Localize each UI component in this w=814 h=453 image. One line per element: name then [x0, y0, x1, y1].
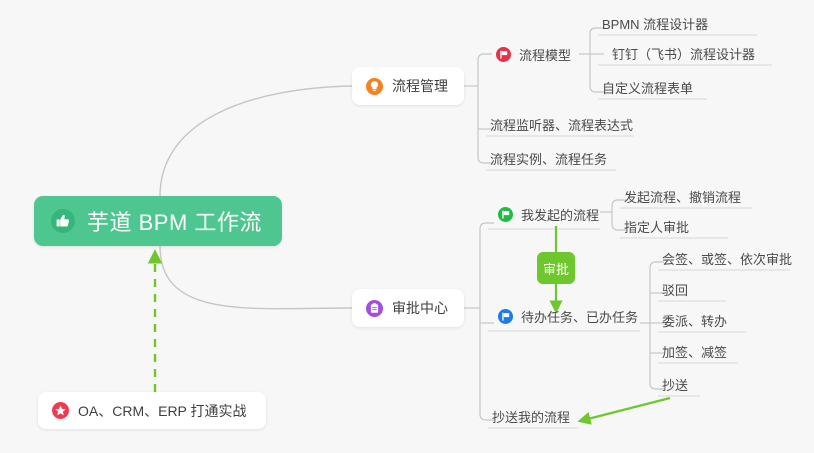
connector-bracket-my-initiated: [480, 223, 494, 229]
lightbulb-icon: [366, 78, 383, 95]
node-label-assigned-approve: 指定人审批: [624, 217, 689, 236]
branch-label-approval-center: 审批中心: [392, 298, 448, 318]
node-label-multi-sign: 会签、或签、依次审批: [662, 249, 792, 268]
approval-badge-label: 审批: [543, 259, 569, 278]
node-start-cancel[interactable]: 发起流程、撤销流程: [620, 182, 747, 210]
node-reject[interactable]: 驳回: [658, 275, 694, 303]
node-label-cc: 抄送: [662, 375, 688, 394]
node-label-oa-crm-erp: OA、CRM、ERP 打通实战: [78, 401, 247, 421]
node-add-remove-sign[interactable]: 加签、减签: [658, 337, 733, 365]
arrow-cc-to-cc-to-me: [580, 398, 670, 421]
flag-icon: [496, 47, 511, 62]
node-cc[interactable]: 抄送: [658, 370, 694, 398]
node-oa-crm-erp[interactable]: OA、CRM、ERP 打通实战: [38, 392, 266, 429]
node-label-bpmn-designer: BPMN 流程设计器: [602, 14, 708, 33]
node-label-start-cancel: 发起流程、撤销流程: [624, 187, 741, 206]
node-instance-task[interactable]: 流程实例、流程任务: [486, 144, 613, 172]
node-process-model[interactable]: 流程模型: [492, 40, 577, 68]
branch-label-process-management: 流程管理: [392, 76, 448, 96]
node-label-custom-process-form: 自定义流程表单: [602, 78, 693, 97]
thumbs-up-icon: [50, 208, 76, 234]
node-label-dingtalk-feishu-designer: 钉钉（飞书）流程设计器: [612, 44, 755, 63]
node-dingtalk-feishu-designer[interactable]: 钉钉（飞书）流程设计器: [608, 39, 761, 67]
node-label-cc-to-me: 抄送我的流程: [492, 407, 570, 426]
mindmap-canvas: 芋道 BPM 工作流 流程管理 审批中心: [0, 0, 814, 453]
node-todo-done[interactable]: 待办任务、已办任务: [494, 302, 644, 330]
node-label-my-initiated: 我发起的流程: [521, 205, 599, 224]
star-icon: [52, 402, 69, 419]
connector-root-to-approval-center: [160, 246, 352, 309]
flag-icon: [498, 207, 513, 222]
branch-node-approval-center[interactable]: 审批中心: [352, 289, 464, 327]
flag-icon: [498, 309, 513, 324]
node-label-listener-expression: 流程监听器、流程表达式: [490, 115, 633, 134]
node-label-add-remove-sign: 加签、减签: [662, 342, 727, 361]
node-label-todo-done: 待办任务、已办任务: [521, 307, 638, 326]
node-label-delegate-transfer: 委派、转办: [662, 311, 727, 330]
node-label-instance-task: 流程实例、流程任务: [490, 149, 607, 168]
connector-root-to-process-management: [160, 86, 352, 196]
clipboard-icon: [366, 300, 383, 317]
node-label-reject: 驳回: [662, 280, 688, 299]
root-label: 芋道 BPM 工作流: [87, 205, 262, 237]
node-custom-process-form[interactable]: 自定义流程表单: [598, 73, 699, 101]
node-multi-sign[interactable]: 会签、或签、依次审批: [658, 244, 798, 272]
node-delegate-transfer[interactable]: 委派、转办: [658, 306, 733, 334]
branch-node-process-management[interactable]: 流程管理: [352, 67, 464, 105]
root-node[interactable]: 芋道 BPM 工作流: [34, 196, 282, 246]
node-my-initiated[interactable]: 我发起的流程: [494, 200, 605, 228]
approval-badge[interactable]: 审批: [537, 252, 575, 284]
node-cc-to-me[interactable]: 抄送我的流程: [488, 402, 576, 430]
node-assigned-approve[interactable]: 指定人审批: [620, 212, 695, 240]
node-listener-expression[interactable]: 流程监听器、流程表达式: [486, 110, 639, 138]
node-bpmn-designer[interactable]: BPMN 流程设计器: [598, 9, 714, 37]
node-label-process-model: 流程模型: [519, 45, 571, 64]
connector-bracket-process-model: [478, 54, 492, 60]
